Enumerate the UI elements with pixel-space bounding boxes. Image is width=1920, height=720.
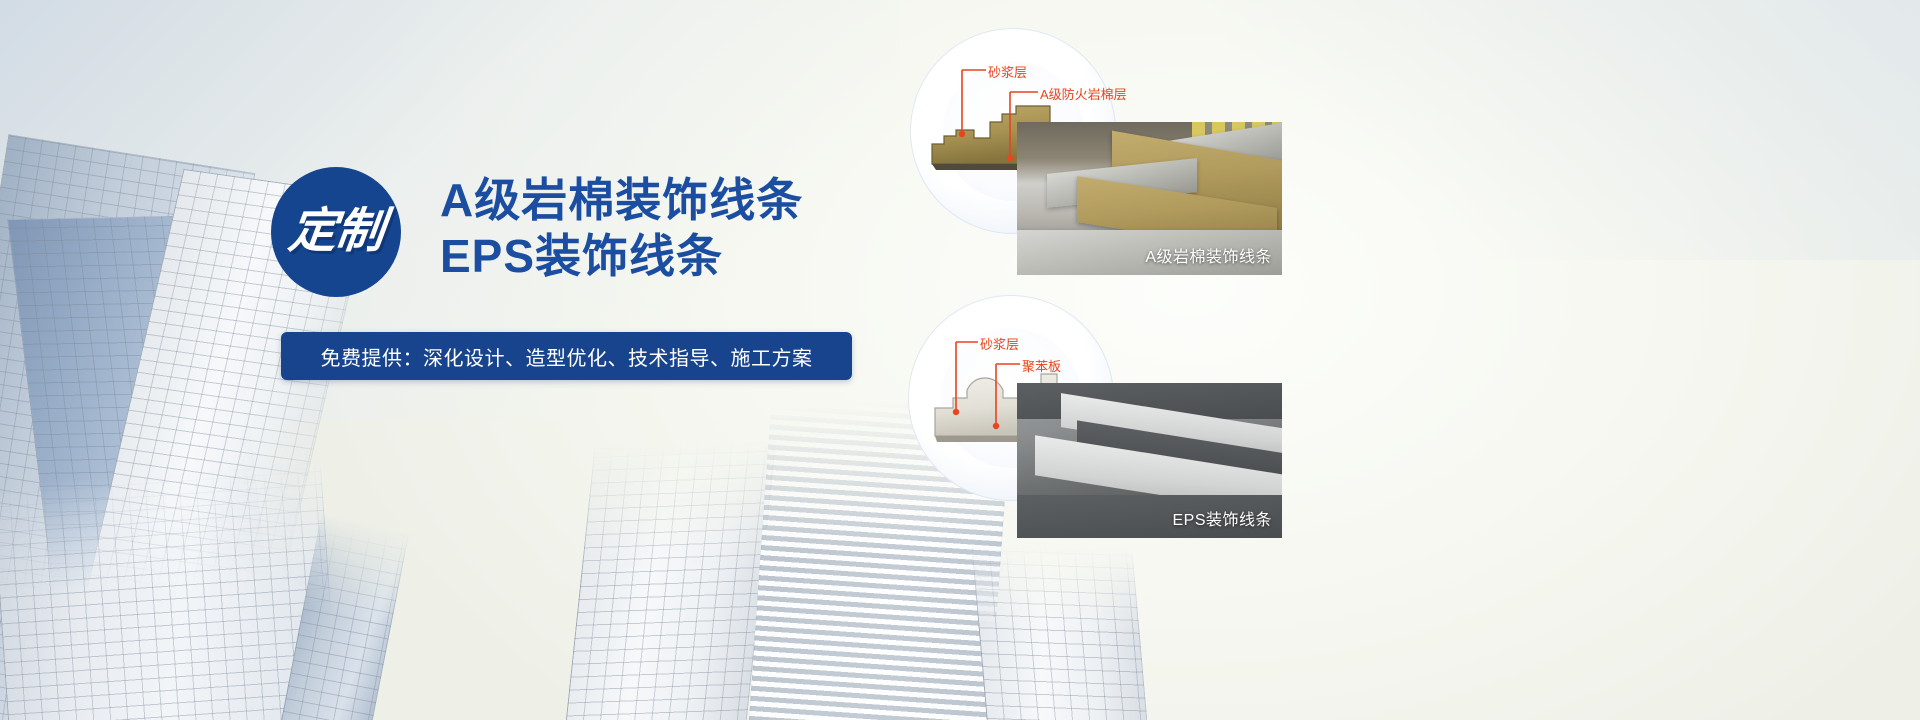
headline-line-1: A级岩棉装饰线条 xyxy=(440,172,803,228)
eps-photo-caption: EPS装饰线条 xyxy=(1172,506,1272,530)
eps-callout-label-2: 聚苯板 xyxy=(1022,356,1061,375)
building-center-white xyxy=(563,438,776,720)
eps-product-photo: EPS装饰线条 xyxy=(1017,383,1282,538)
headline-line-2: EPS装饰线条 xyxy=(440,228,803,284)
building-slab-right xyxy=(971,543,1149,720)
custom-badge: 定制 xyxy=(271,167,401,297)
rockwool-photo-caption: A级岩棉装饰线条 xyxy=(1145,243,1272,267)
services-banner-label: 免费提供：深化设计、造型优化、技术指导、施工方案 xyxy=(321,342,813,371)
eps-callout-label-1: 砂浆层 xyxy=(980,334,1019,353)
rockwool-callout-label-2: A级防火岩棉层 xyxy=(1040,84,1127,103)
rockwool-callout-label-1: 砂浆层 xyxy=(988,62,1027,81)
promo-banner: 定制 A级岩棉装饰线条 EPS装饰线条 免费提供：深化设计、造型优化、技术指导、… xyxy=(0,0,1920,720)
services-banner: 免费提供：深化设计、造型优化、技术指导、施工方案 xyxy=(281,332,852,380)
custom-badge-label: 定制 xyxy=(286,208,386,256)
page-title: A级岩棉装饰线条 EPS装饰线条 xyxy=(440,172,803,284)
rockwool-product-photo: A级岩棉装饰线条 xyxy=(1017,122,1282,275)
